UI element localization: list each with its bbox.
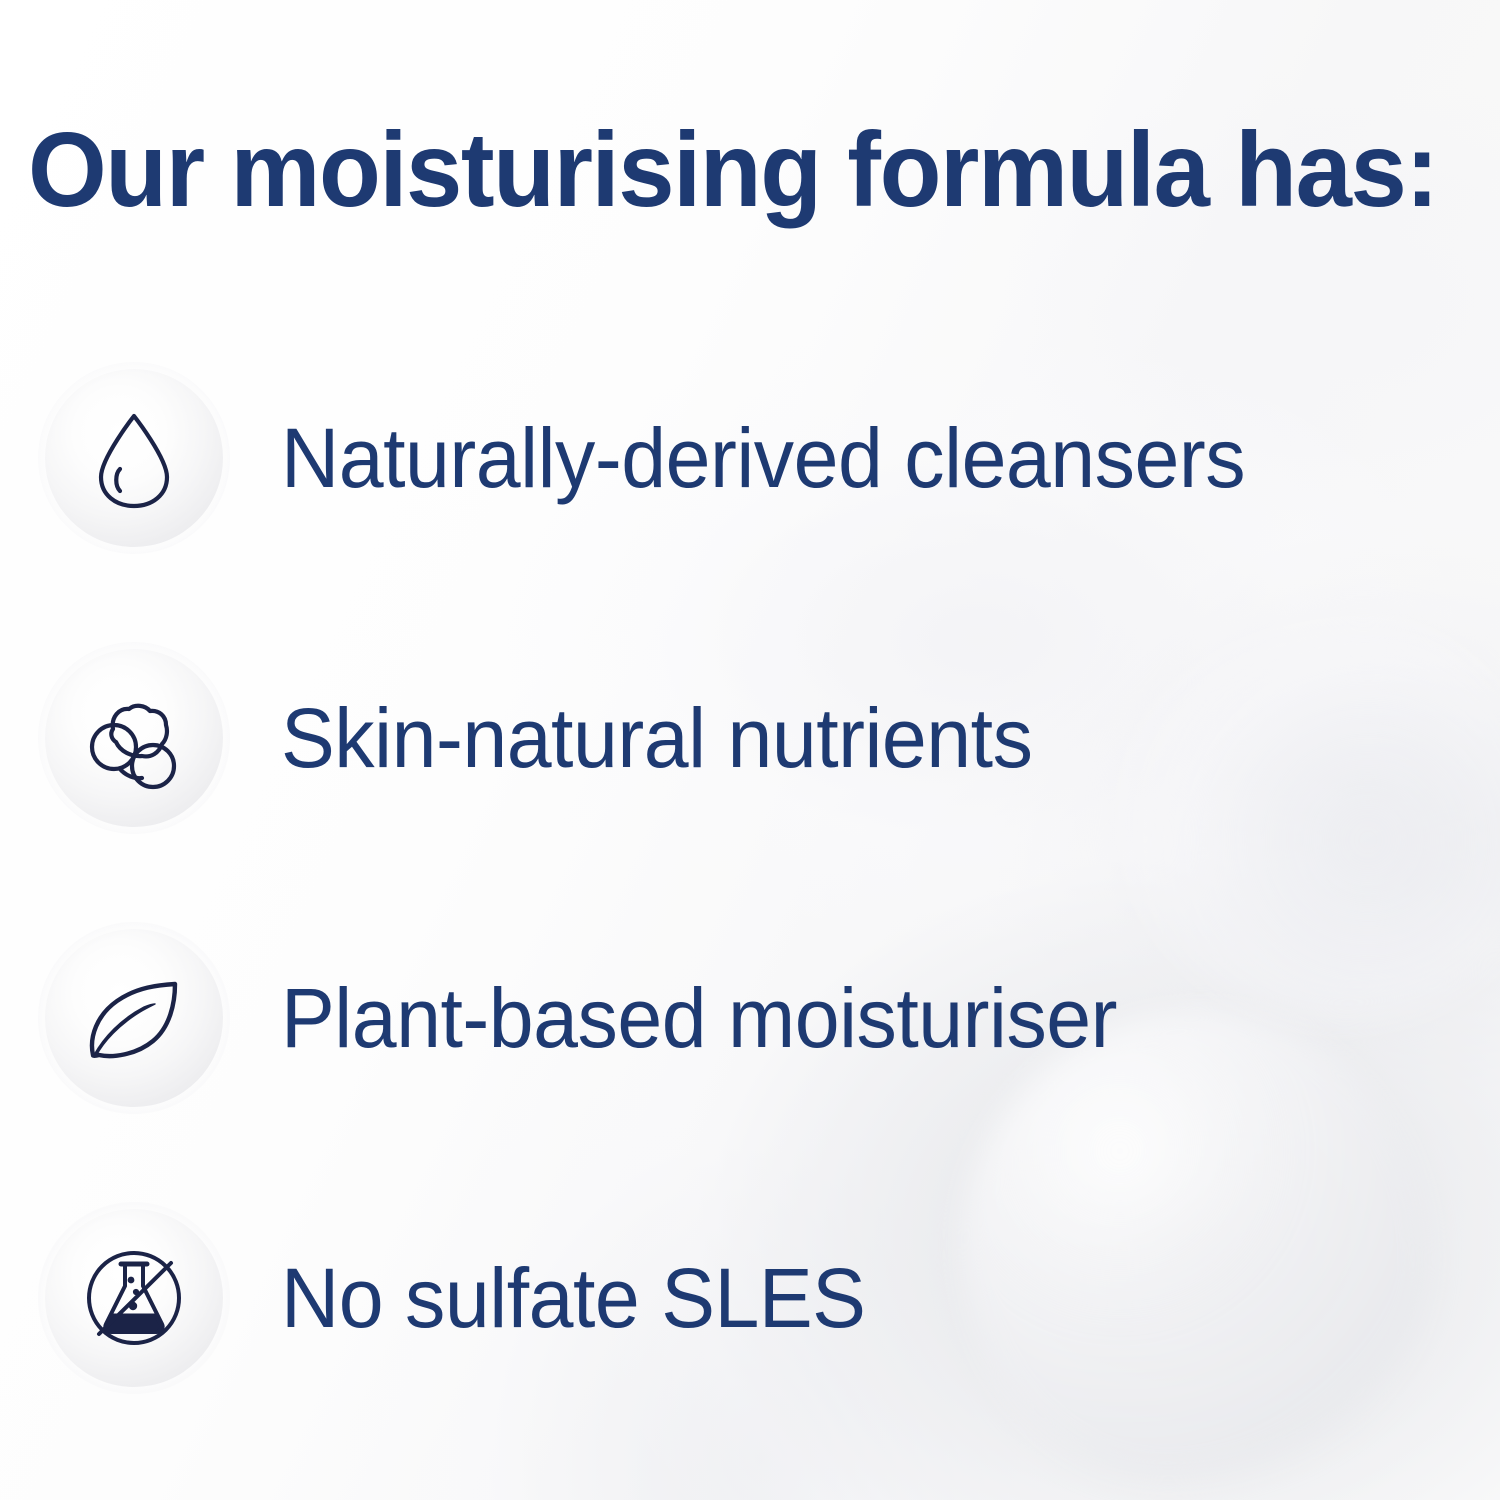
list-item: Naturally-derived cleansers [0, 318, 1500, 598]
benefit-label: No sulfate SLES [281, 1256, 865, 1340]
no-chemical-flask-icon [72, 1236, 196, 1360]
benefit-icon-badge [45, 369, 223, 547]
benefit-icon-badge [45, 929, 223, 1107]
water-droplet-icon [74, 398, 194, 518]
list-item: Plant-based moisturiser [0, 878, 1500, 1158]
page-title: Our moisturising formula has: [28, 115, 1422, 225]
list-item: Skin-natural nutrients [0, 598, 1500, 878]
benefit-label: Plant-based moisturiser [281, 976, 1117, 1060]
leaf-icon [71, 963, 197, 1073]
molecule-bubbles-icon [73, 677, 195, 799]
benefit-icon-badge [45, 649, 223, 827]
benefit-label: Skin-natural nutrients [281, 696, 1032, 780]
benefit-icon-badge [45, 1209, 223, 1387]
benefit-label: Naturally-derived cleansers [281, 416, 1245, 500]
benefit-list: Naturally-derived cleansers Skin-natural… [0, 318, 1500, 1438]
product-benefits-card: Our moisturising formula has: Naturally-… [0, 0, 1500, 1500]
list-item: No sulfate SLES [0, 1158, 1500, 1438]
